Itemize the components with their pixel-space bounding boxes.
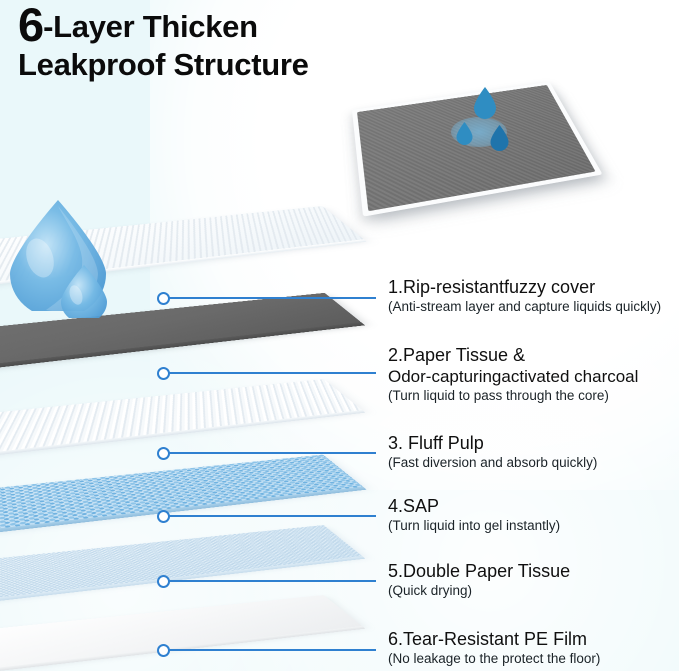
callout-line-1 — [168, 297, 376, 299]
callout-sub-2: (Turn liquid to pass through the core) — [388, 387, 638, 405]
callout-title-3: 3. Fluff Pulp — [388, 432, 597, 454]
callout-label-3: 3. Fluff Pulp (Fast diversion and absorb… — [388, 432, 597, 472]
callout-label-4: 4.SAP (Turn liquid into gel instantly) — [388, 495, 560, 535]
callout-sub-4: (Turn liquid into gel instantly) — [388, 517, 560, 535]
callout-line-6 — [168, 649, 376, 651]
callout-line-3 — [168, 452, 376, 454]
infographic-canvas: 6-Layer Thicken Leakproof Structure — [0, 0, 679, 671]
callout-sub-3: (Fast diversion and absorb quickly) — [388, 454, 597, 472]
callout-line-2 — [168, 372, 376, 374]
sheet-edge — [0, 410, 365, 462]
callout-title-2: 2.Paper Tissue & — [388, 344, 638, 366]
callout-sub-6: (No leakage to the protect the floor) — [388, 650, 600, 668]
layer-sheet-3-fluff-pulp — [0, 379, 362, 458]
water-drop-icon — [472, 86, 498, 120]
callout-sub-1: (Anti-stream layer and capture liquids q… — [388, 298, 661, 316]
callout-title-2-line2: Odor-capturingactivated charcoal — [388, 366, 638, 387]
sheet-edge — [0, 322, 365, 375]
callout-label-2: 2.Paper Tissue & Odor-capturingactivated… — [388, 344, 638, 405]
layer-sheet-4-sap — [0, 455, 363, 536]
water-drop-icon — [455, 121, 474, 146]
callout-title-5: 5.Double Paper Tissue — [388, 560, 570, 582]
callout-line-4 — [168, 515, 376, 517]
title-line-1: 6-Layer Thicken — [18, 8, 438, 44]
callout-label-1: 1.Rip-resistantfuzzy cover (Anti-stream … — [388, 276, 661, 316]
title-line-1-rest: -Layer Thicken — [43, 9, 258, 44]
callout-line-5 — [168, 580, 376, 582]
callout-title-4: 4.SAP — [388, 495, 560, 517]
callout-title-6: 6.Tear-Resistant PE Film — [388, 628, 600, 650]
callout-label-6: 6.Tear-Resistant PE Film (No leakage to … — [388, 628, 600, 668]
water-drop-icon — [58, 262, 110, 318]
water-drop-icon — [489, 124, 510, 152]
callout-sub-5: (Quick drying) — [388, 582, 570, 600]
callout-title-1: 1.Rip-resistantfuzzy cover — [388, 276, 661, 298]
callout-label-5: 5.Double Paper Tissue (Quick drying) — [388, 560, 570, 600]
layer-sheet-5-double-tissue — [0, 525, 362, 604]
